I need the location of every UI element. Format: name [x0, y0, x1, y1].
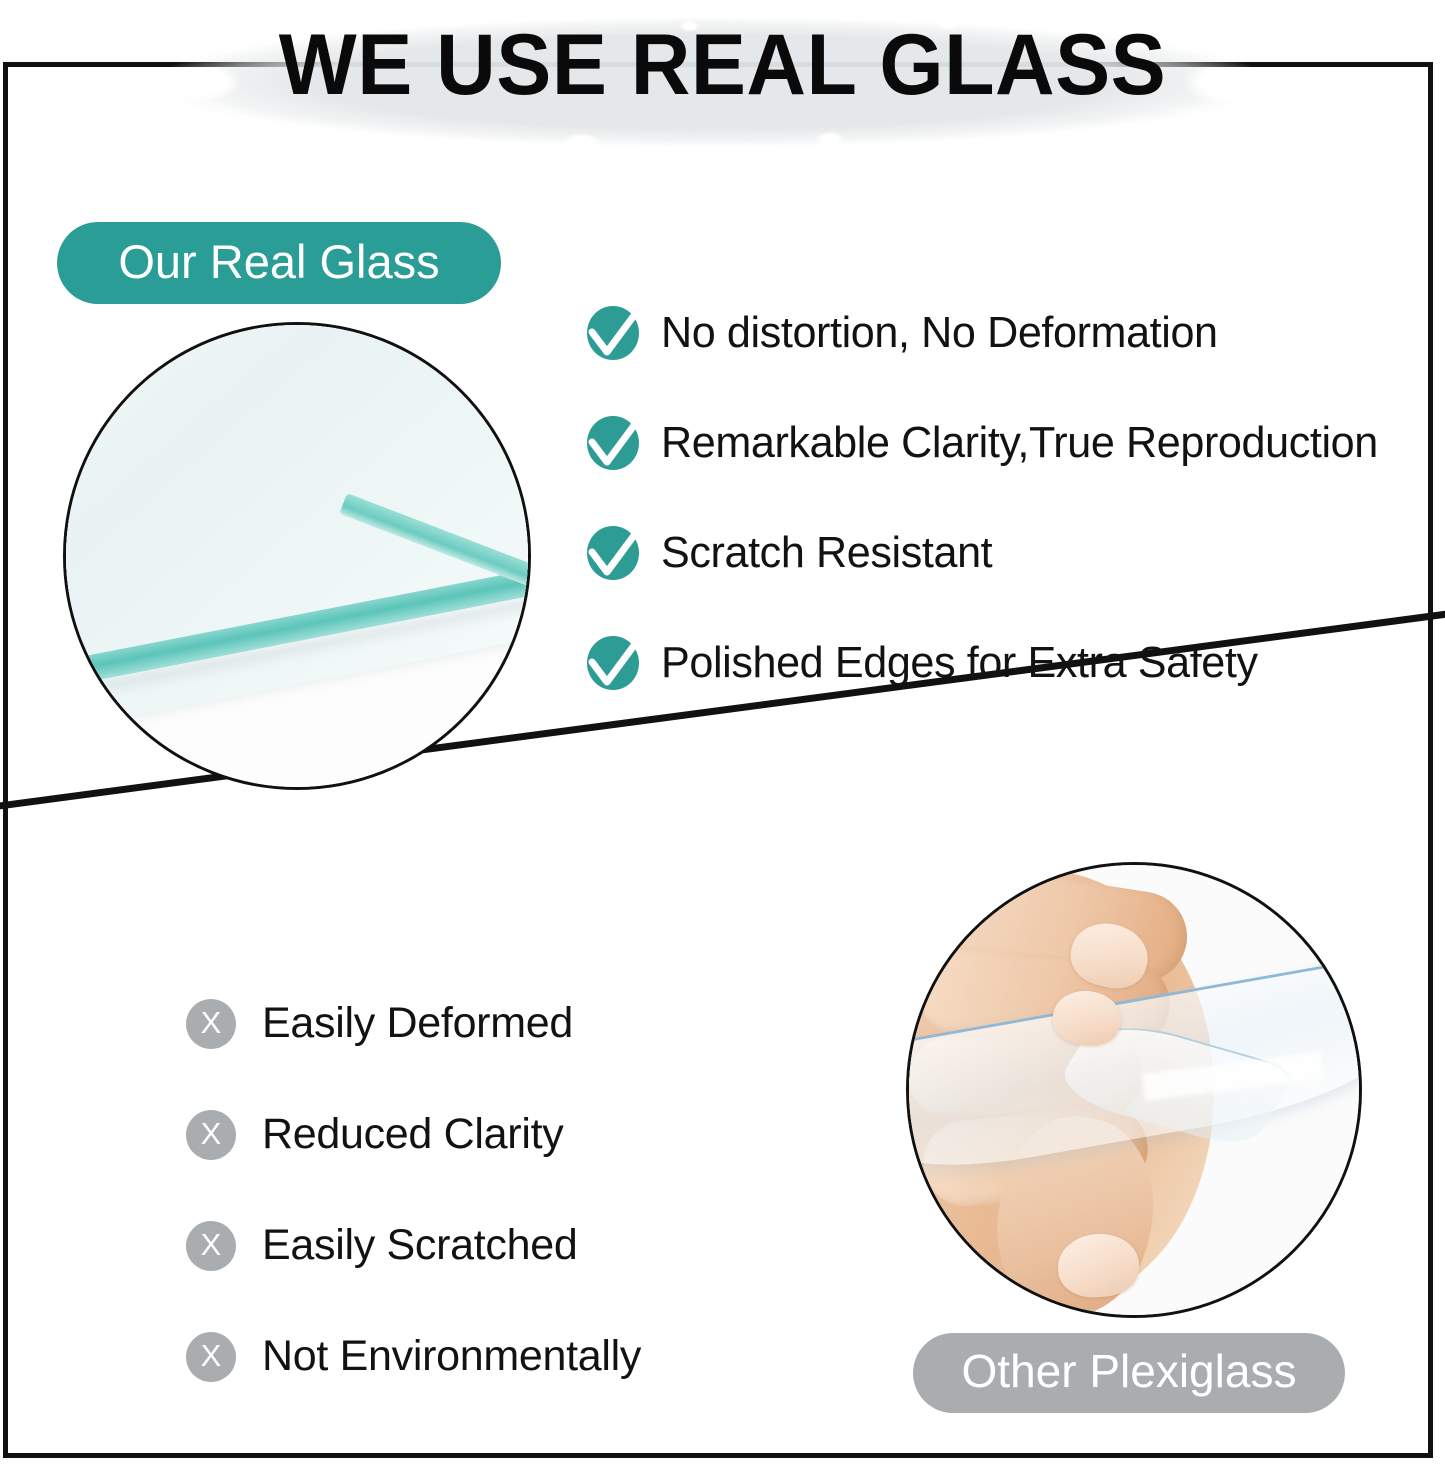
badge-other-plexiglass: Other Plexiglass	[913, 1333, 1345, 1413]
feature-label: Scratch Resistant	[661, 528, 992, 578]
x-circle-icon: X	[186, 1221, 236, 1271]
feature-row: No distortion, No Deformation	[585, 278, 1435, 388]
x-circle-icon: X	[186, 999, 236, 1049]
page-title: WE USE REAL GLASS	[29, 22, 1416, 108]
drawback-label: Reduced Clarity	[262, 1110, 563, 1159]
drawback-row: X Reduced Clarity	[186, 1079, 806, 1190]
drawback-row: X Easily Scratched	[186, 1190, 806, 1301]
badge-other-plexiglass-label: Other Plexiglass	[962, 1344, 1297, 1398]
x-circle-icon: X	[186, 1332, 236, 1382]
infographic-page: WE USE REAL GLASS Our Real Glass No dist…	[0, 0, 1445, 1470]
feature-row: Scratch Resistant	[585, 498, 1435, 608]
plexiglass-drawback-list: X Easily Deformed X Reduced Clarity X Ea…	[186, 968, 806, 1412]
badge-our-real-glass-label: Our Real Glass	[118, 234, 439, 289]
drawback-label: Not Environmentally	[262, 1332, 641, 1381]
feature-label: No distortion, No Deformation	[661, 308, 1218, 358]
plexiglass-photo	[906, 862, 1362, 1318]
drawback-row: X Not Environmentally	[186, 1301, 806, 1412]
check-circle-icon	[585, 416, 639, 470]
feature-row: Remarkable Clarity,True Reproduction	[585, 388, 1435, 498]
check-circle-icon	[585, 636, 639, 690]
feature-row: Polished Edges for Extra Safety	[585, 608, 1435, 718]
drawback-label: Easily Deformed	[262, 999, 573, 1048]
drawback-label: Easily Scratched	[262, 1221, 577, 1270]
check-circle-icon	[585, 526, 639, 580]
real-glass-photo	[63, 322, 531, 790]
badge-our-real-glass: Our Real Glass	[57, 222, 501, 304]
feature-label: Polished Edges for Extra Safety	[661, 638, 1258, 688]
drawback-row: X Easily Deformed	[186, 968, 806, 1079]
header: WE USE REAL GLASS	[0, 0, 1445, 160]
real-glass-feature-list: No distortion, No Deformation Remarkable…	[585, 278, 1435, 718]
x-circle-icon: X	[186, 1110, 236, 1160]
feature-label: Remarkable Clarity,True Reproduction	[661, 418, 1378, 468]
check-circle-icon	[585, 306, 639, 360]
